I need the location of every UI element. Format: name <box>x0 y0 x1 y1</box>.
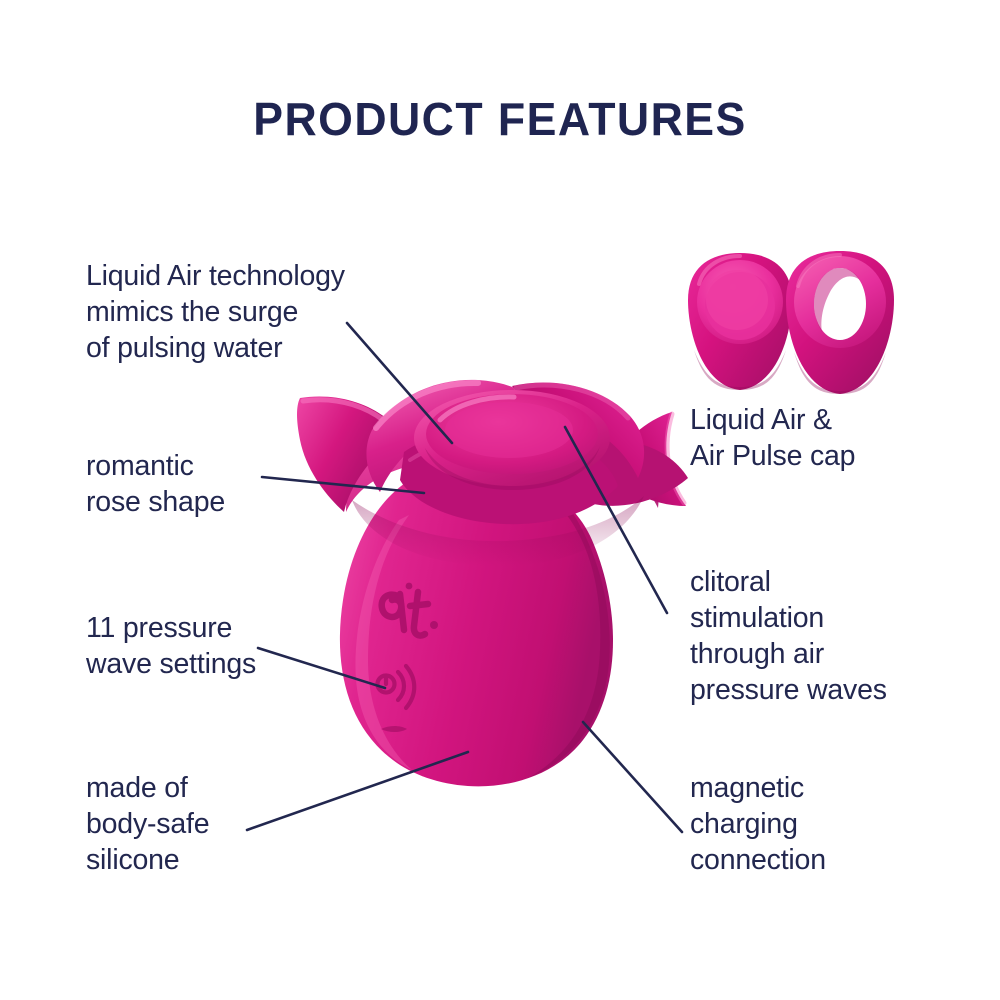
callout-body-safe-silicone: made of body-safe silicone <box>86 770 209 878</box>
cap-air-pulse <box>786 251 894 394</box>
callout-liquid-air-and-air-pulse-cap: Liquid Air & Air Pulse cap <box>690 402 855 474</box>
callout-clitoral-stimulation: clitoral stimulation through air pressur… <box>690 564 887 708</box>
logo-dot-icon <box>406 583 413 590</box>
cap-liquid-air <box>688 253 792 390</box>
logo-dot-2-icon <box>430 621 438 629</box>
product-features-infographic: PRODUCT FEATURES <box>0 0 1000 1000</box>
rose-device <box>297 380 688 786</box>
callout-pressure-wave-settings: 11 pressure wave settings <box>86 610 256 682</box>
callout-romantic-rose-shape: romantic rose shape <box>86 448 225 520</box>
callout-magnetic-charging-connection: magnetic charging connection <box>690 770 826 878</box>
callout-liquid-air-technology: Liquid Air technology mimics the surge o… <box>86 258 345 366</box>
